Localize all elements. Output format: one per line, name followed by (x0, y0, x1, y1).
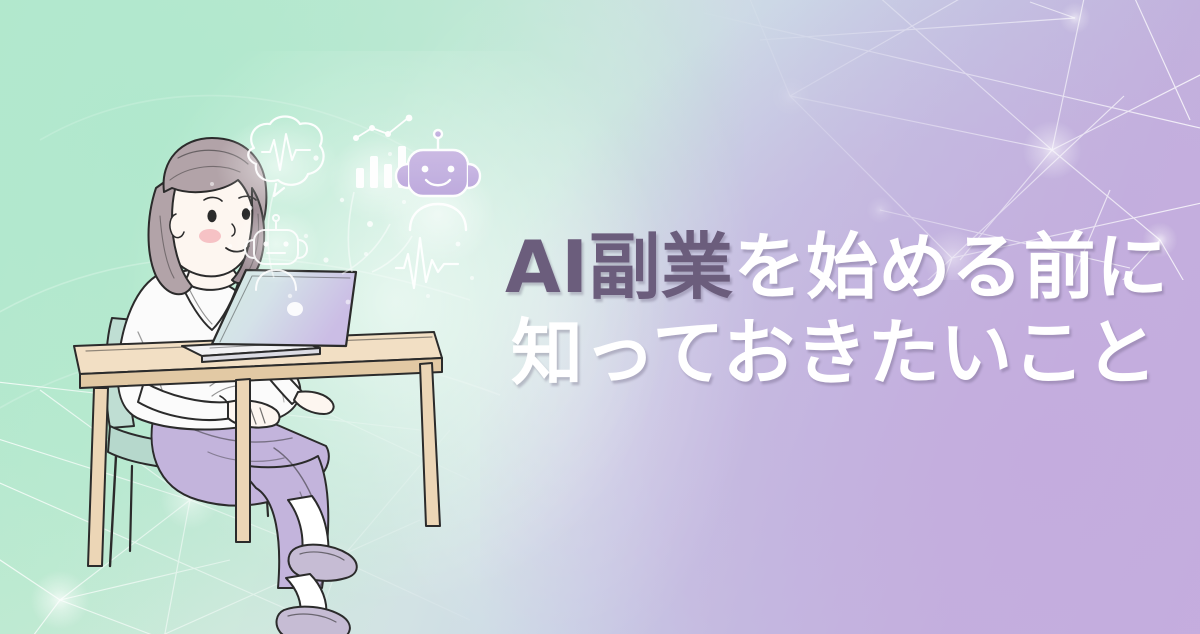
headline-accent-text: AI副業 (505, 225, 734, 309)
headline-line-1: AI副業を始める前に (505, 224, 1145, 310)
headline-block: AI副業を始める前に 知っておきたいこと (505, 224, 1145, 396)
ai-side-business-banner: AI副業を始める前に 知っておきたいこと (0, 0, 1200, 634)
headline-line-2: 知っておきたいこと (505, 310, 1145, 396)
illustration-woman-with-laptop (60, 96, 500, 616)
headline-line-1-rest: を始める前に (734, 225, 1169, 309)
